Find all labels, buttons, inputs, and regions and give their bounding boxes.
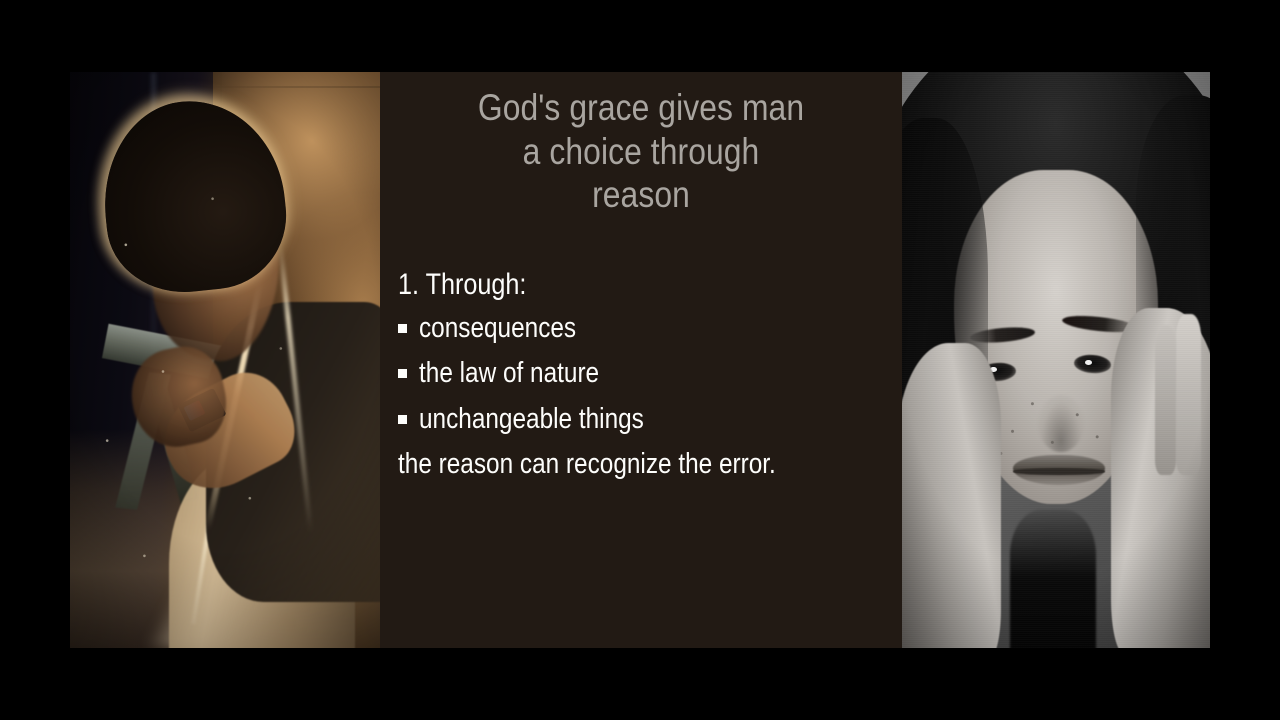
slide-title: God's grace gives man a choice through r… <box>417 86 866 217</box>
bullet-label: unchangeable things <box>419 404 644 434</box>
presentation-slide: God's grace gives man a choice through r… <box>0 0 1280 720</box>
square-bullet-icon <box>398 415 407 424</box>
list-item: unchangeable things <box>398 404 888 434</box>
slide-body: 1. Through: consequences the law of natu… <box>398 270 888 480</box>
square-bullet-icon <box>398 324 407 333</box>
bullet-label: the law of nature <box>419 358 599 388</box>
left-photo-vignette <box>70 72 380 648</box>
square-bullet-icon <box>398 369 407 378</box>
text-panel: God's grace gives man a choice through r… <box>380 72 902 648</box>
bullet-list: consequences the law of nature unchangea… <box>398 313 888 434</box>
closing-line: the reason can recognize the error. <box>398 449 810 479</box>
list-item: consequences <box>398 313 888 343</box>
right-photo-woman-portrait <box>902 72 1210 648</box>
lead-line: 1. Through: <box>398 270 810 300</box>
left-photo-praying-man <box>70 72 380 648</box>
bullet-label: consequences <box>419 313 576 343</box>
right-photo-vignette <box>902 72 1210 648</box>
list-item: the law of nature <box>398 358 888 388</box>
